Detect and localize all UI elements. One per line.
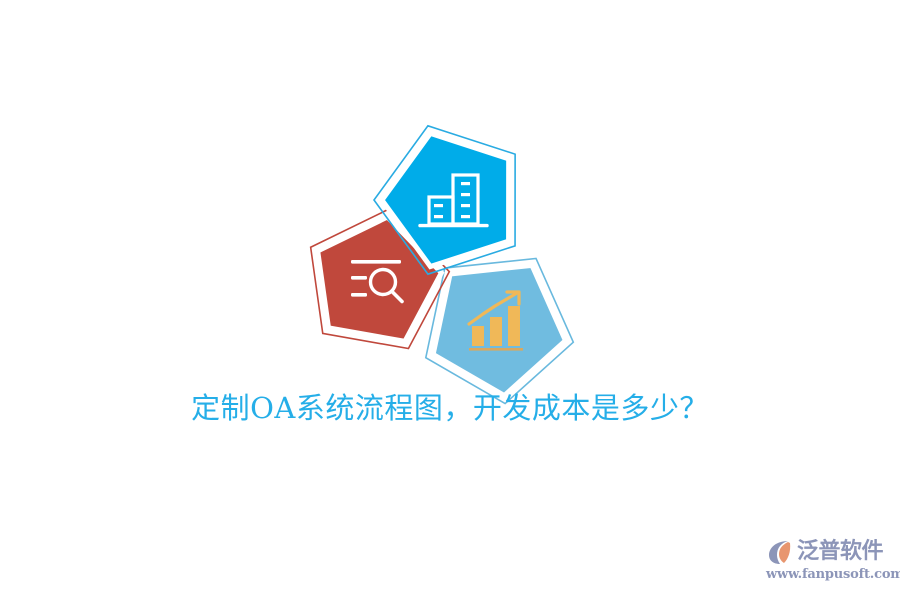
pentagon-cluster-graphic — [296, 110, 596, 410]
watermark-logo: 泛普软件 www.fanpusoft.com — [766, 536, 894, 586]
fanpu-logo-icon — [766, 537, 796, 567]
watermark-url: www.fanpusoft.com — [766, 567, 894, 582]
watermark-brand-row: 泛普软件 — [766, 536, 894, 568]
page-title: 定制OA系统流程图，开发成本是多少？ — [0, 388, 900, 428]
watermark-brand-name: 泛普软件 — [797, 537, 883, 567]
pentagon-building-body — [367, 113, 533, 275]
page-canvas: 定制OA系统流程图，开发成本是多少？ 泛普软件 www.fanpusoft.co… — [0, 0, 900, 600]
